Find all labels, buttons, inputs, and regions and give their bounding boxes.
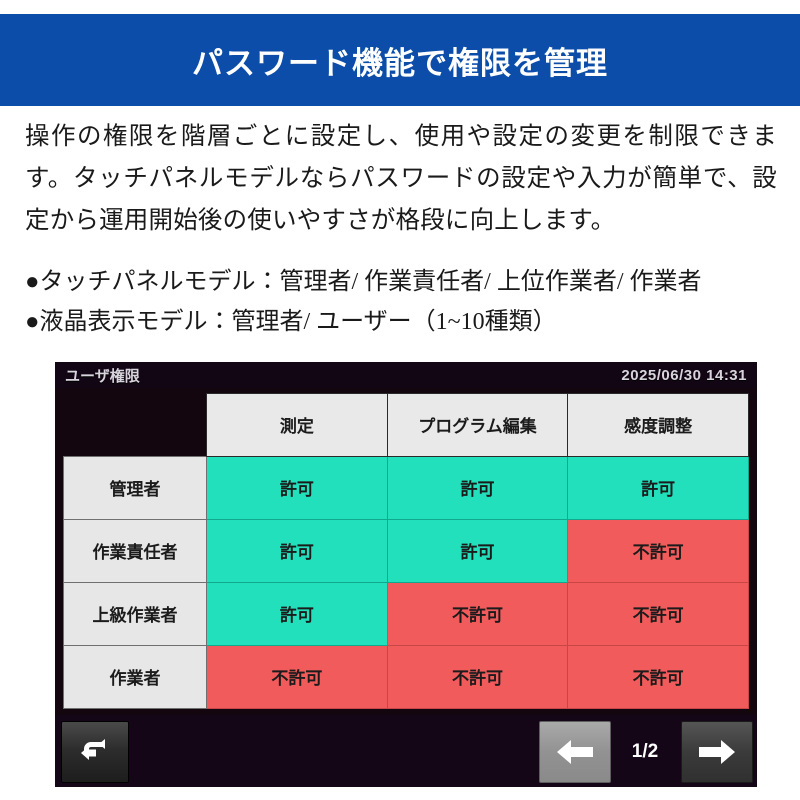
column-header-measure[interactable]: 測定 <box>207 394 388 457</box>
cell-administrator-sensitivity[interactable]: 許可 <box>568 456 749 519</box>
column-header-sensitivity[interactable]: 感度調整 <box>568 394 749 457</box>
bullet-list: ●タッチパネルモデル：管理者/ 作業責任者/ 上位作業者/ 作業者 ●液晶表示モ… <box>25 262 785 342</box>
page-title: パスワード機能で権限を管理 <box>192 38 608 83</box>
cell-operator-sensitivity[interactable]: 不許可 <box>568 645 749 708</box>
cell-administrator-program-edit[interactable]: 許可 <box>387 456 568 519</box>
cell-supervisor-sensitivity[interactable]: 不許可 <box>568 519 749 582</box>
previous-page-button[interactable] <box>539 721 611 783</box>
header-banner: パスワード機能で権限を管理 <box>0 14 800 106</box>
cell-operator-program-edit[interactable]: 不許可 <box>387 645 568 708</box>
cell-senior-operator-sensitivity[interactable]: 不許可 <box>568 582 749 645</box>
arrow-left-icon <box>555 737 595 767</box>
column-header-program-edit[interactable]: プログラム編集 <box>387 394 568 457</box>
cell-operator-measure[interactable]: 不許可 <box>207 645 388 708</box>
return-arrow-icon <box>78 736 112 768</box>
cell-administrator-measure[interactable]: 許可 <box>207 456 388 519</box>
device-navbar: 1/2 <box>55 715 757 787</box>
cell-supervisor-measure[interactable]: 許可 <box>207 519 388 582</box>
device-timestamp: 2025/06/30 14:31 <box>621 367 747 384</box>
cell-senior-operator-measure[interactable]: 許可 <box>207 582 388 645</box>
matrix-header-row: 測定 プログラム編集 感度調整 <box>64 394 749 457</box>
table-row: 作業責任者 許可 許可 不許可 <box>64 519 749 582</box>
row-header-supervisor[interactable]: 作業責任者 <box>64 519 207 582</box>
back-button[interactable] <box>61 721 129 783</box>
row-header-operator[interactable]: 作業者 <box>64 645 207 708</box>
device-screen: ユーザ権限 2025/06/30 14:31 測定 プログラム編集 感度調整 管… <box>55 362 757 787</box>
next-page-button[interactable] <box>681 721 753 783</box>
bullet-item-touch-panel: ●タッチパネルモデル：管理者/ 作業責任者/ 上位作業者/ 作業者 <box>25 262 785 302</box>
row-header-administrator[interactable]: 管理者 <box>64 456 207 519</box>
body-paragraph: 操作の権限を階層ごとに設定し、使用や設定の変更を制限できます。タッチパネルモデル… <box>25 116 777 242</box>
cell-senior-operator-program-edit[interactable]: 不許可 <box>387 582 568 645</box>
device-titlebar: ユーザ権限 2025/06/30 14:31 <box>55 362 757 388</box>
matrix-corner-cell <box>64 394 207 457</box>
table-row: 管理者 許可 許可 許可 <box>64 456 749 519</box>
permission-matrix: 測定 プログラム編集 感度調整 管理者 許可 許可 許可 作業責任者 許可 許可… <box>63 393 749 709</box>
page-indicator: 1/2 <box>613 721 677 783</box>
table-row: 作業者 不許可 不許可 不許可 <box>64 645 749 708</box>
page-root: パスワード機能で権限を管理 操作の権限を階層ごとに設定し、使用や設定の変更を制限… <box>0 0 800 800</box>
arrow-right-icon <box>697 737 737 767</box>
bullet-item-lcd-model: ●液晶表示モデル：管理者/ ユーザー（1~10種類） <box>25 302 785 342</box>
cell-supervisor-program-edit[interactable]: 許可 <box>387 519 568 582</box>
row-header-senior-operator[interactable]: 上級作業者 <box>64 582 207 645</box>
table-row: 上級作業者 許可 不許可 不許可 <box>64 582 749 645</box>
device-screen-title: ユーザ権限 <box>65 365 140 386</box>
